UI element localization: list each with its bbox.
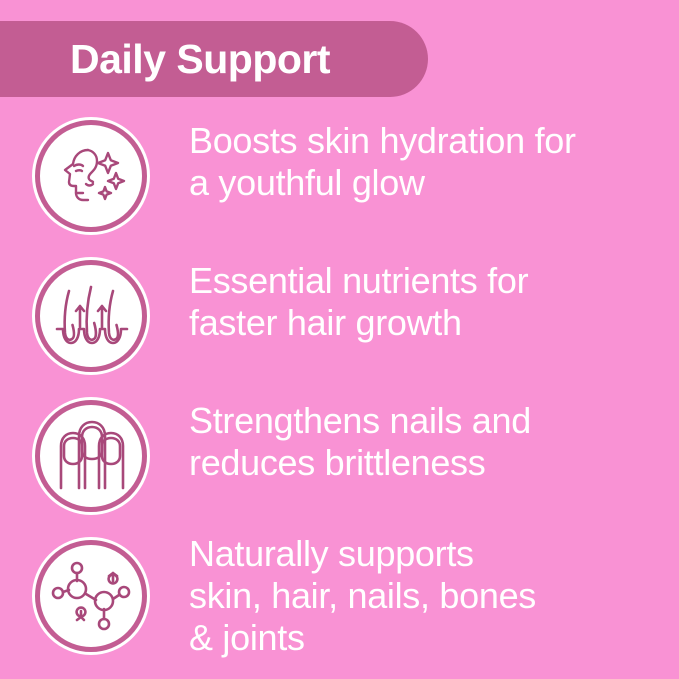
benefit-text-line: Boosts skin hydration for <box>189 120 659 162</box>
benefit-text-line: Naturally supports <box>189 533 659 575</box>
header-banner: Daily Support <box>0 21 428 97</box>
hair-follicle-growth-icon <box>51 279 131 353</box>
icon-ring <box>35 120 147 232</box>
benefit-text-line: & joints <box>189 617 659 659</box>
fingernails-icon <box>51 418 131 494</box>
benefit-icon-badge <box>32 117 150 235</box>
benefit-text: Essential nutrients for faster hair grow… <box>189 260 659 344</box>
daily-support-infographic: Daily Support <box>0 0 679 679</box>
icon-ring <box>35 400 147 512</box>
benefit-icon-badge <box>32 397 150 515</box>
benefit-text-line: a youthful glow <box>189 162 659 204</box>
benefit-text-line: faster hair growth <box>189 302 659 344</box>
benefit-icon-badge <box>32 537 150 655</box>
face-sparkle-icon <box>52 137 130 215</box>
benefit-text-line: reduces brittleness <box>189 442 659 484</box>
molecule-icon <box>51 559 131 633</box>
page-title: Daily Support <box>70 39 330 80</box>
benefit-text-line: Essential nutrients for <box>189 260 659 302</box>
benefit-icon-badge <box>32 257 150 375</box>
benefit-text: Strengthens nails and reduces brittlenes… <box>189 400 659 484</box>
icon-ring <box>35 260 147 372</box>
benefit-text: Naturally supports skin, hair, nails, bo… <box>189 533 659 659</box>
benefit-text: Boosts skin hydration for a youthful glo… <box>189 120 659 204</box>
benefit-text-line: skin, hair, nails, bones <box>189 575 659 617</box>
icon-ring <box>35 540 147 652</box>
benefit-text-line: Strengthens nails and <box>189 400 659 442</box>
